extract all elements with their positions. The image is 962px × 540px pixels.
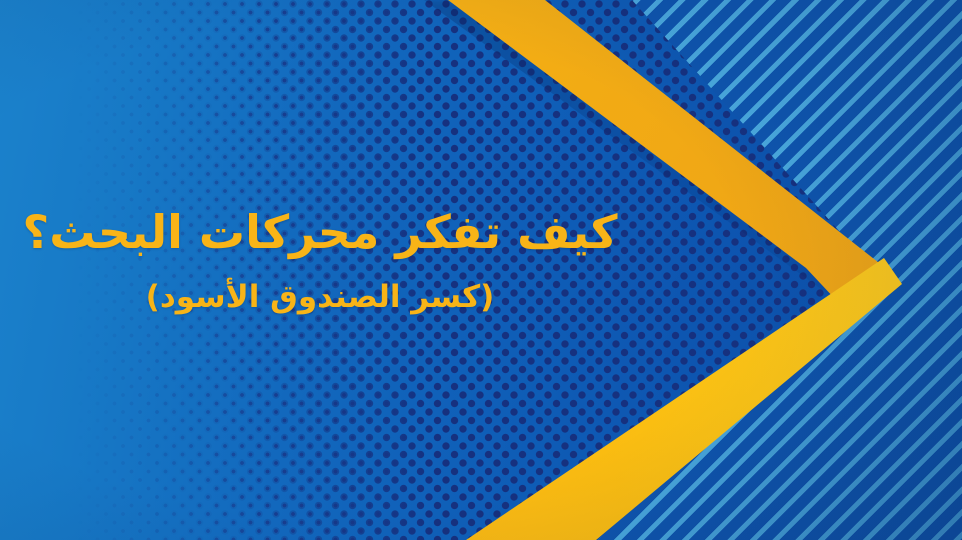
- slide-title: كيف تفكر محركات البحث؟: [0, 204, 640, 260]
- title-text-block: كيف تفكر محركات البحث؟ (كسر الصندوق الأس…: [0, 204, 640, 317]
- presentation-title-slide: كيف تفكر محركات البحث؟ (كسر الصندوق الأس…: [0, 0, 962, 540]
- slide-subtitle: (كسر الصندوق الأسود): [0, 278, 640, 317]
